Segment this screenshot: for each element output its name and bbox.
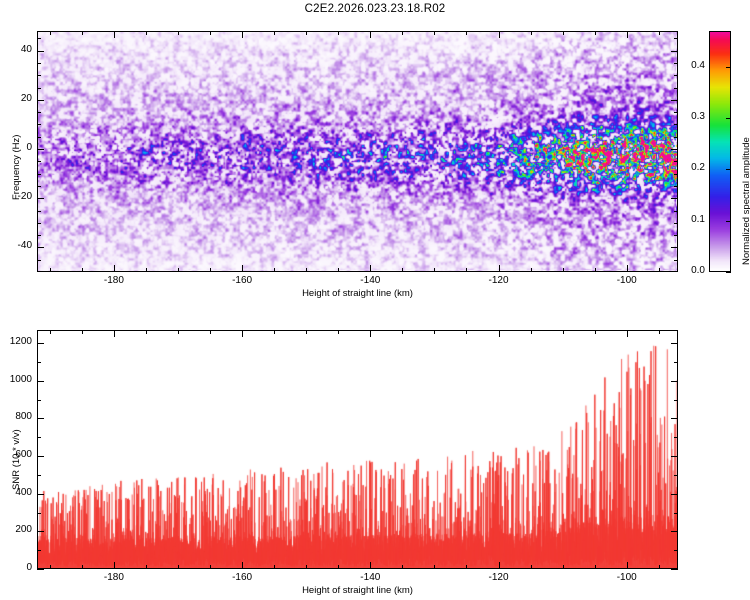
minor-tick (210, 31, 211, 35)
minor-tick (402, 268, 403, 272)
minor-tick (50, 268, 51, 272)
minor-tick (595, 565, 596, 569)
major-tick (242, 330, 243, 337)
x-tick-label: -180 (84, 572, 144, 583)
minor-tick (37, 88, 41, 89)
major-tick (114, 31, 115, 38)
major-tick (627, 31, 628, 38)
minor-tick (674, 513, 678, 514)
minor-tick (674, 88, 678, 89)
minor-tick (466, 330, 467, 334)
colorbar-tick-label: 0.2 (679, 162, 705, 173)
minor-tick (37, 63, 41, 64)
spectrogram-x-axis-label: Height of straight line (km) (0, 288, 715, 299)
minor-tick (674, 124, 678, 125)
major-tick (37, 531, 44, 532)
major-tick (671, 531, 678, 532)
major-tick (671, 343, 678, 344)
minor-tick (563, 565, 564, 569)
minor-tick (434, 31, 435, 35)
minor-tick (274, 31, 275, 35)
minor-tick (595, 31, 596, 35)
minor-tick (674, 186, 678, 187)
minor-tick (37, 38, 41, 39)
minor-tick (674, 161, 678, 162)
minor-tick (37, 437, 41, 438)
minor-tick (146, 565, 147, 569)
major-tick (671, 494, 678, 495)
major-tick (671, 51, 678, 52)
minor-tick (37, 161, 41, 162)
minor-tick (563, 31, 564, 35)
colorbar-tick (726, 169, 731, 170)
major-tick (671, 247, 678, 248)
major-tick (37, 494, 44, 495)
minor-tick (37, 400, 41, 401)
minor-tick (659, 565, 660, 569)
minor-tick (274, 565, 275, 569)
minor-tick (82, 330, 83, 334)
major-tick (499, 265, 500, 272)
minor-tick (37, 475, 41, 476)
minor-tick (37, 112, 41, 113)
colorbar-tick (726, 272, 731, 273)
major-tick (37, 51, 44, 52)
minor-tick (674, 475, 678, 476)
major-tick (114, 265, 115, 272)
minor-tick (563, 268, 564, 272)
minor-tick (674, 75, 678, 76)
minor-tick (146, 330, 147, 334)
minor-tick (531, 268, 532, 272)
minor-tick (146, 268, 147, 272)
minor-tick (466, 565, 467, 569)
major-tick (671, 569, 678, 570)
y-tick-label: 1200 (0, 336, 32, 347)
minor-tick (674, 223, 678, 224)
major-tick (627, 330, 628, 337)
minor-tick (37, 513, 41, 514)
minor-tick (178, 565, 179, 569)
figure-root: C2E2.2026.023.23.18.R02 -180-160-140-120… (0, 0, 750, 600)
major-tick (499, 562, 500, 569)
spectrogram-y-axis-label: Frequency (Hz) (11, 135, 22, 200)
snr-panel (37, 330, 678, 569)
major-tick (627, 562, 628, 569)
y-tick-label: 40 (0, 44, 32, 55)
minor-tick (50, 330, 51, 334)
minor-tick (674, 550, 678, 551)
colorbar-tick-label: 0.1 (679, 214, 705, 225)
major-tick (370, 562, 371, 569)
snr-x-axis-label: Height of straight line (km) (0, 585, 715, 596)
minor-tick (674, 400, 678, 401)
minor-tick (178, 268, 179, 272)
minor-tick (674, 211, 678, 212)
minor-tick (37, 186, 41, 187)
minor-tick (37, 137, 41, 138)
minor-tick (466, 268, 467, 272)
major-tick (671, 149, 678, 150)
major-tick (671, 418, 678, 419)
minor-tick (402, 565, 403, 569)
minor-tick (595, 330, 596, 334)
major-tick (671, 100, 678, 101)
major-tick (37, 381, 44, 382)
minor-tick (674, 38, 678, 39)
minor-tick (674, 235, 678, 236)
colorbar-tick (726, 118, 731, 119)
minor-tick (466, 31, 467, 35)
minor-tick (37, 124, 41, 125)
major-tick (370, 330, 371, 337)
major-tick (370, 31, 371, 38)
minor-tick (274, 268, 275, 272)
minor-tick (674, 437, 678, 438)
minor-tick (674, 112, 678, 113)
y-tick-label: 200 (0, 524, 32, 535)
snr-y-axis-label: SNR (10 * v/v) (11, 429, 22, 490)
x-tick-label: -120 (469, 275, 529, 286)
colorbar-tick-label: 0.0 (679, 265, 705, 276)
snr-trace (38, 331, 677, 568)
figure-title: C2E2.2026.023.23.18.R02 (0, 3, 750, 15)
minor-tick (563, 330, 564, 334)
spectrogram-panel (37, 31, 678, 272)
major-tick (242, 31, 243, 38)
minor-tick (674, 174, 678, 175)
major-tick (37, 418, 44, 419)
minor-tick (178, 330, 179, 334)
minor-tick (674, 63, 678, 64)
minor-tick (434, 268, 435, 272)
minor-tick (531, 31, 532, 35)
minor-tick (674, 362, 678, 363)
minor-tick (37, 235, 41, 236)
major-tick (114, 330, 115, 337)
x-tick-label: -100 (597, 572, 657, 583)
major-tick (242, 265, 243, 272)
x-tick-label: -140 (340, 275, 400, 286)
major-tick (499, 31, 500, 38)
minor-tick (50, 31, 51, 35)
minor-tick (531, 330, 532, 334)
major-tick (37, 569, 44, 570)
x-tick-label: -160 (212, 572, 272, 583)
minor-tick (306, 330, 307, 334)
minor-tick (595, 268, 596, 272)
x-tick-label: -160 (212, 275, 272, 286)
minor-tick (402, 31, 403, 35)
minor-tick (210, 565, 211, 569)
major-tick (37, 100, 44, 101)
major-tick (37, 198, 44, 199)
x-tick-label: -140 (340, 572, 400, 583)
minor-tick (674, 260, 678, 261)
major-tick (37, 456, 44, 457)
major-tick (671, 456, 678, 457)
minor-tick (37, 174, 41, 175)
x-tick-label: -100 (597, 275, 657, 286)
major-tick (242, 562, 243, 569)
colorbar-label: Normalized spectral amplitude (741, 137, 750, 265)
major-tick (627, 265, 628, 272)
minor-tick (82, 31, 83, 35)
minor-tick (338, 31, 339, 35)
minor-tick (210, 330, 211, 334)
y-tick-label: 0 (0, 562, 32, 573)
y-tick-label: 1000 (0, 374, 32, 385)
minor-tick (306, 268, 307, 272)
minor-tick (434, 330, 435, 334)
y-tick-label: -40 (0, 240, 32, 251)
minor-tick (37, 75, 41, 76)
minor-tick (37, 550, 41, 551)
minor-tick (178, 31, 179, 35)
minor-tick (659, 330, 660, 334)
minor-tick (37, 223, 41, 224)
major-tick (671, 198, 678, 199)
x-tick-label: -120 (469, 572, 529, 583)
minor-tick (82, 565, 83, 569)
major-tick (37, 247, 44, 248)
minor-tick (434, 565, 435, 569)
colorbar-tick (726, 221, 731, 222)
major-tick (114, 562, 115, 569)
minor-tick (210, 268, 211, 272)
minor-tick (659, 31, 660, 35)
minor-tick (50, 565, 51, 569)
major-tick (671, 381, 678, 382)
major-tick (37, 343, 44, 344)
minor-tick (338, 268, 339, 272)
minor-tick (274, 330, 275, 334)
minor-tick (338, 565, 339, 569)
minor-tick (674, 137, 678, 138)
minor-tick (37, 211, 41, 212)
colorbar-tick-label: 0.4 (679, 60, 705, 71)
colorbar-tick-label: 0.3 (679, 111, 705, 122)
y-tick-label: 800 (0, 411, 32, 422)
minor-tick (37, 260, 41, 261)
major-tick (37, 149, 44, 150)
colorbar-tick (726, 67, 731, 68)
x-tick-label: -180 (84, 275, 144, 286)
minor-tick (82, 268, 83, 272)
minor-tick (306, 565, 307, 569)
minor-tick (146, 31, 147, 35)
spectrogram-image (38, 32, 677, 271)
minor-tick (37, 362, 41, 363)
minor-tick (338, 330, 339, 334)
minor-tick (402, 330, 403, 334)
major-tick (499, 330, 500, 337)
minor-tick (659, 268, 660, 272)
minor-tick (306, 31, 307, 35)
minor-tick (531, 565, 532, 569)
major-tick (370, 265, 371, 272)
y-tick-label: 20 (0, 93, 32, 104)
